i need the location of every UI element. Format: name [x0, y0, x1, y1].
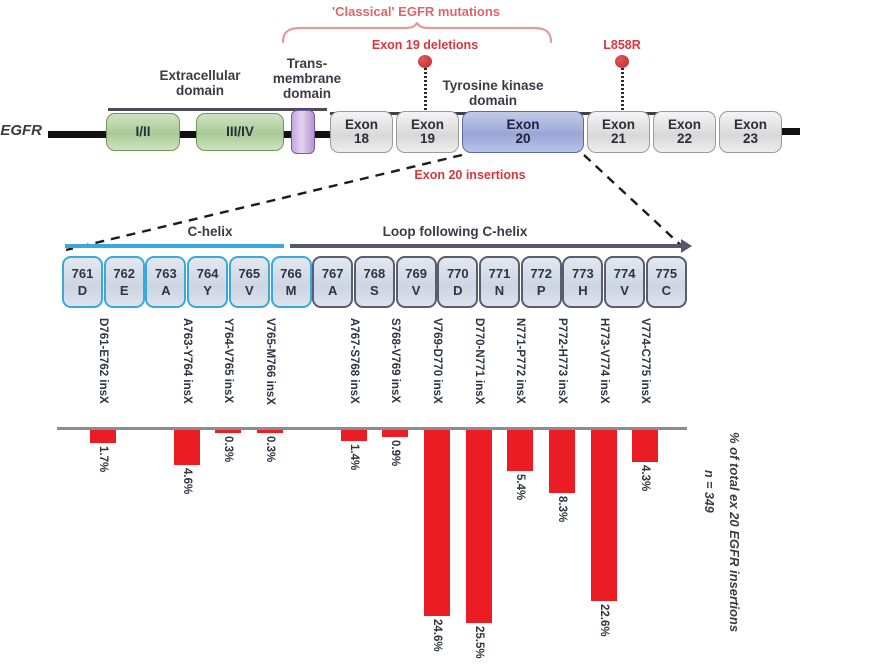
residue-box-765: 765V: [229, 256, 270, 308]
residue-aa-768: S: [370, 283, 379, 298]
residue-position-764: 764: [197, 266, 219, 281]
exon-20-line1: Exon: [506, 117, 539, 132]
bar-value-d770-n771-insx: 25.5%: [473, 626, 485, 659]
mutation-label-n771-p772-insx: N771-P772 insX: [514, 318, 526, 404]
residue-box-769: 769V: [396, 256, 437, 308]
residue-aa-772: P: [537, 283, 546, 298]
bar-v765-m766-insx: [257, 430, 283, 433]
residue-position-769: 769: [405, 266, 427, 281]
bar-value-y764-v765-insx: 0.3%: [222, 436, 234, 462]
extracellular-line2: domain: [176, 83, 224, 98]
c-helix-rule: [65, 244, 284, 248]
residue-aa-764: Y: [203, 283, 212, 298]
residue-aa-769: V: [412, 283, 421, 298]
egfr-exon20-figure: 'Classical' EGFR mutations Exon 19 delet…: [0, 0, 877, 666]
mutation-label-v765-m766-insx: V765-M766 insX: [264, 318, 276, 405]
mutation-label-y764-v765-insx: Y764-V765 insX: [222, 318, 234, 403]
extracellular-domain-label: Extracellular domain: [159, 68, 240, 98]
residue-aa-773: H: [578, 283, 587, 298]
tk-line1: Tyrosine kinase: [442, 78, 543, 93]
bar-v774-c775-insx: [632, 430, 658, 462]
residue-position-763: 763: [155, 266, 177, 281]
residue-box-775: 775C: [646, 256, 687, 308]
mutation-label-p772-h773-insx: P772-H773 insX: [556, 318, 568, 404]
mutation-label-s768-v769-insx: S768-V769 insX: [389, 318, 401, 403]
residue-aa-774: V: [620, 283, 629, 298]
classical-mutations-label: 'Classical' EGFR mutations: [332, 4, 500, 19]
exon-18-line1: Exon: [345, 117, 378, 132]
residue-position-773: 773: [572, 266, 594, 281]
residue-box-774: 774V: [604, 256, 645, 308]
y-axis-label: % of total ex 20 EGFR insertions: [726, 432, 742, 632]
residue-box-761: 761D: [62, 256, 103, 308]
exon-21-line1: Exon: [602, 117, 635, 132]
extracellular-domain-rule: [108, 108, 293, 111]
mutation-label-a763-y764-insx: A763-Y764 insX: [181, 318, 193, 404]
transmembrane-line3: domain: [283, 86, 331, 101]
residue-position-766: 766: [280, 266, 302, 281]
bar-n771-p772-insx: [507, 430, 533, 471]
gene-backbone-tail: [782, 128, 800, 135]
tyrosine-kinase-domain-label: Tyrosine kinase domain: [442, 78, 543, 108]
gene-label: EGFR: [0, 122, 42, 139]
residue-aa-762: E: [120, 283, 129, 298]
bar-value-v769-d770-insx: 24.6%: [431, 619, 443, 652]
bar-p772-h773-insx: [549, 430, 575, 493]
bar-value-p772-h773-insx: 8.3%: [556, 496, 568, 522]
residue-position-768: 768: [364, 266, 386, 281]
residue-box-770: 770D: [437, 256, 478, 308]
residue-position-771: 771: [489, 266, 511, 281]
residue-box-767: 767A: [312, 256, 353, 308]
residue-box-762: 762E: [104, 256, 145, 308]
bar-value-n771-p772-insx: 5.4%: [514, 474, 526, 500]
bar-value-s768-v769-insx: 0.9%: [389, 440, 401, 466]
exon19-deletions-label: Exon 19 deletions: [372, 38, 478, 52]
residue-box-772: 772P: [521, 256, 562, 308]
residue-position-765: 765: [238, 266, 260, 281]
bar-a763-y764-insx: [174, 430, 200, 465]
bar-s768-v769-insx: [382, 430, 408, 437]
bar-value-v774-c775-insx: 4.3%: [639, 465, 651, 491]
loop-arrow-icon: [681, 239, 692, 253]
bar-h773-v774-insx: [591, 430, 617, 601]
residue-aa-767: A: [328, 283, 337, 298]
residue-aa-770: D: [453, 283, 462, 298]
ec-domain-box-2-label: III/IV: [226, 125, 254, 139]
c-helix-label: C-helix: [187, 224, 232, 239]
residue-position-767: 767: [322, 266, 344, 281]
residue-aa-766: M: [286, 283, 297, 298]
bar-value-h773-v774-insx: 22.6%: [598, 604, 610, 637]
residue-box-773: 773H: [562, 256, 603, 308]
bar-value-a767-s768-insx: 1.4%: [348, 444, 360, 470]
residue-box-763: 763A: [145, 256, 186, 308]
residue-box-768: 768S: [354, 256, 395, 308]
residue-aa-761: D: [78, 283, 87, 298]
bar-value-a763-y764-insx: 4.6%: [181, 468, 193, 494]
bar-a767-s768-insx: [341, 430, 367, 441]
transmembrane-line1: Trans-: [287, 56, 328, 71]
mutation-label-d761-e762-insx: D761-E762 insX: [97, 318, 109, 404]
bar-y764-v765-insx: [215, 430, 241, 433]
residue-box-764: 764Y: [187, 256, 228, 308]
mutation-label-v774-c775-insx: V774-C775 insX: [639, 318, 651, 404]
exon-19-line1: Exon: [411, 117, 444, 132]
ec-domain-box-1-label: I/II: [135, 125, 150, 139]
residue-aa-763: A: [161, 283, 170, 298]
transmembrane-line2: membrane: [273, 71, 341, 86]
bar-d761-e762-insx: [90, 430, 116, 443]
loop-rule: [290, 244, 684, 248]
residue-position-772: 772: [530, 266, 552, 281]
residue-aa-765: V: [245, 283, 254, 298]
tk-line2: domain: [469, 93, 517, 108]
mutation-label-h773-v774-insx: H773-V774 insX: [598, 318, 610, 404]
loop-following-c-helix-label: Loop following C-helix: [383, 224, 528, 239]
mutation-label-v769-d770-insx: V769-D770 insX: [431, 318, 443, 404]
bar-v769-d770-insx: [424, 430, 450, 616]
bar-d770-n771-insx: [466, 430, 492, 623]
residue-box-766: 766M: [271, 256, 312, 308]
bar-value-v765-m766-insx: 0.3%: [264, 436, 276, 462]
exon-23-line1: Exon: [734, 117, 767, 132]
residue-position-762: 762: [113, 266, 135, 281]
mutation-label-a767-s768-insx: A767-S768 insX: [348, 318, 360, 404]
bar-value-d761-e762-insx: 1.7%: [97, 446, 109, 472]
extracellular-line1: Extracellular: [159, 68, 240, 83]
transmembrane-domain-label: Trans- membrane domain: [273, 56, 341, 101]
residue-position-770: 770: [447, 266, 469, 281]
mutation-label-d770-n771-insx: D770-N771 insX: [473, 318, 485, 404]
exon-22-line1: Exon: [668, 117, 701, 132]
residue-position-775: 775: [655, 266, 677, 281]
sample-size-label: n = 349: [702, 470, 716, 513]
residue-aa-775: C: [662, 283, 671, 298]
residue-position-774: 774: [614, 266, 636, 281]
residue-aa-771: N: [495, 283, 504, 298]
residue-position-761: 761: [72, 266, 94, 281]
l858r-label: L858R: [603, 38, 641, 52]
residue-box-771: 771N: [479, 256, 520, 308]
